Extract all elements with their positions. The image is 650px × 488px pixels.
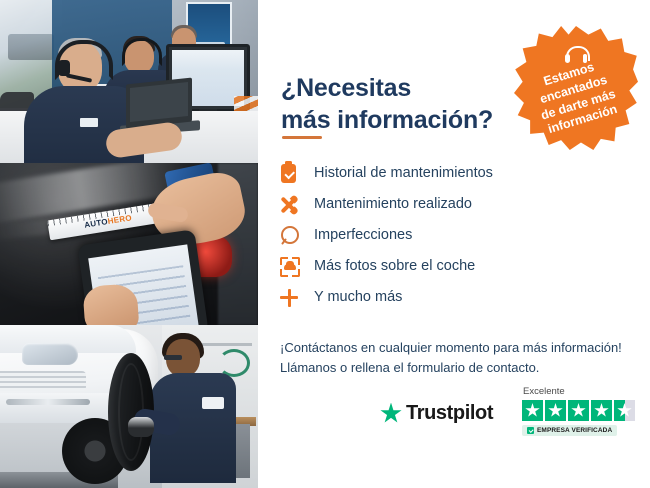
feature-list: Historial de mantenimientos Mantenimient… bbox=[276, 158, 616, 313]
verified-check-icon bbox=[527, 427, 534, 434]
car-focus-frame-icon bbox=[276, 255, 306, 279]
verified-business-badge: EMPRESA VERIFICADA bbox=[522, 425, 617, 436]
rating-star-1 bbox=[522, 400, 543, 421]
photo-car-grille bbox=[0, 371, 86, 391]
contact-line-one: ¡Contáctanos en cualquier momento para m… bbox=[280, 338, 636, 358]
frame-corner-bottom-right bbox=[292, 269, 300, 277]
photo-mechanic-glove bbox=[128, 417, 154, 437]
magnifier-icon bbox=[276, 224, 306, 248]
page-title-line-one: ¿Necesitas bbox=[281, 74, 411, 102]
magnifier-icon-shape bbox=[280, 226, 299, 246]
photo-column: AUTOHERO bbox=[0, 0, 258, 488]
rating-star-3 bbox=[568, 400, 589, 421]
frame-corner-bottom-left bbox=[280, 269, 288, 277]
star-glyph bbox=[571, 403, 586, 418]
feature-item-much-more: Y mucho más bbox=[276, 282, 616, 313]
photo-agent-one-name-badge bbox=[80, 118, 98, 127]
trustpilot-star-rating bbox=[522, 400, 638, 421]
star-glyph bbox=[525, 403, 540, 418]
feature-label: Mantenimiento realizado bbox=[306, 197, 472, 212]
photo-car-headlight bbox=[22, 343, 78, 365]
rating-star-5-half bbox=[614, 400, 635, 421]
feature-item-imperfections: Imperfecciones bbox=[276, 220, 616, 251]
crossed-tools-icon-shape bbox=[280, 196, 298, 214]
star-glyph bbox=[548, 403, 563, 418]
trustpilot-wordmark: Trustpilot bbox=[406, 402, 493, 425]
page-title-line-two: más información? bbox=[281, 104, 531, 136]
car-glyph bbox=[284, 264, 296, 270]
support-badge: Estamos encantados de darte más informac… bbox=[514, 26, 638, 150]
contact-line-two: Llámanos o rellena el formulario de cont… bbox=[280, 358, 636, 378]
photo-mechanic-name-badge bbox=[202, 397, 224, 409]
clipboard-check-icon bbox=[276, 162, 306, 186]
photo-car-chrome-strip bbox=[6, 399, 90, 405]
trustpilot-logo[interactable]: Trustpilot bbox=[380, 402, 493, 425]
feature-item-service-history: Historial de mantenimientos bbox=[276, 158, 616, 189]
plus-icon-shape bbox=[280, 289, 298, 307]
crossed-tools-icon bbox=[276, 193, 306, 217]
call-center-agents-photo bbox=[0, 0, 258, 163]
vehicle-inspection-photo: AUTOHERO bbox=[0, 163, 258, 326]
feature-label: Historial de mantenimientos bbox=[306, 166, 493, 181]
trustpilot-rating-label: Excelente bbox=[522, 386, 638, 397]
content-panel: ¿Necesitas más información? Estamos enca… bbox=[258, 0, 650, 488]
contact-paragraph: ¡Contáctanos en cualquier momento para m… bbox=[280, 338, 636, 378]
photo-laptop bbox=[126, 77, 192, 128]
feature-label: Imperfecciones bbox=[306, 228, 412, 243]
rating-star-2 bbox=[545, 400, 566, 421]
clipboard-check-icon-shape bbox=[281, 164, 296, 183]
mechanic-wheel-inspection-photo bbox=[0, 325, 258, 488]
feature-label: Y mucho más bbox=[306, 290, 402, 305]
trustpilot-widget[interactable]: Trustpilot Excelente EMPRESA VERIFICADA bbox=[380, 386, 638, 448]
title-divider bbox=[282, 136, 322, 139]
star-glyph bbox=[594, 403, 609, 418]
trustpilot-rating-block[interactable]: Excelente EMPRESA VERIFICADA bbox=[522, 386, 638, 439]
information-promo-card: AUTOHERO bbox=[0, 0, 650, 488]
rating-star-4 bbox=[591, 400, 612, 421]
plus-icon bbox=[276, 286, 306, 310]
photo-mechanic-glasses bbox=[164, 355, 182, 360]
feature-label: Más fotos sobre el coche bbox=[306, 259, 475, 274]
car-focus-frame-icon-shape bbox=[280, 257, 300, 277]
photo-agent-two-headset bbox=[122, 38, 162, 66]
feature-item-maintenance-done: Mantenimiento realizado bbox=[276, 189, 616, 220]
trustpilot-star-icon bbox=[380, 403, 402, 425]
headset-ear-left bbox=[565, 54, 570, 63]
verified-business-label: EMPRESA VERIFICADA bbox=[537, 427, 612, 434]
page-title: ¿Necesitas más información? bbox=[281, 72, 531, 136]
feature-item-more-photos: Más fotos sobre el coche bbox=[276, 251, 616, 282]
